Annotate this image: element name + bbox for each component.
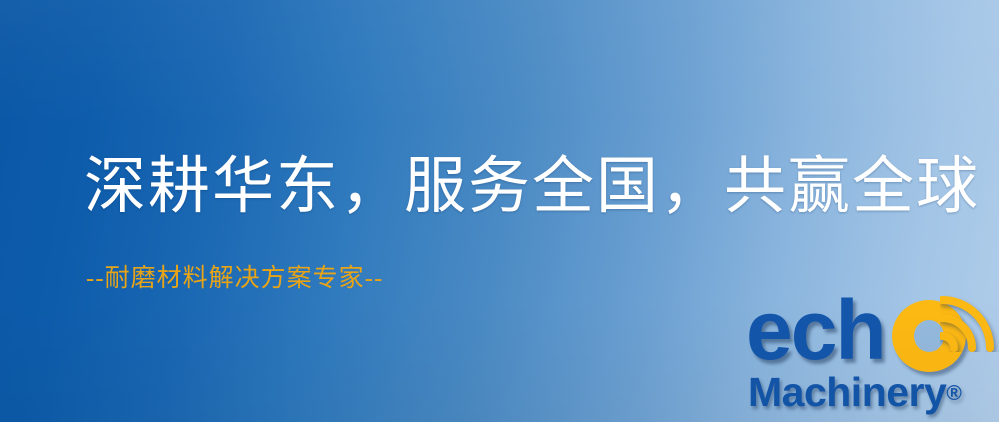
company-logo[interactable]: ech Machinery®	[744, 292, 999, 422]
subtitle: --耐磨材料解决方案专家--	[86, 263, 383, 295]
hero-banner: 深耕华东，服务全国，共赢全球 --耐磨材料解决方案专家-- ech Machin…	[0, 0, 999, 422]
signal-waves-icon	[940, 290, 999, 352]
page-title: 深耕华东，服务全国，共赢全球	[84, 148, 980, 226]
logo-echo-text: ech	[746, 288, 885, 372]
logo-tagline: Machinery®	[748, 370, 962, 416]
registered-trademark-icon: ®	[946, 382, 961, 405]
logo-tagline-text: Machinery	[748, 369, 946, 415]
